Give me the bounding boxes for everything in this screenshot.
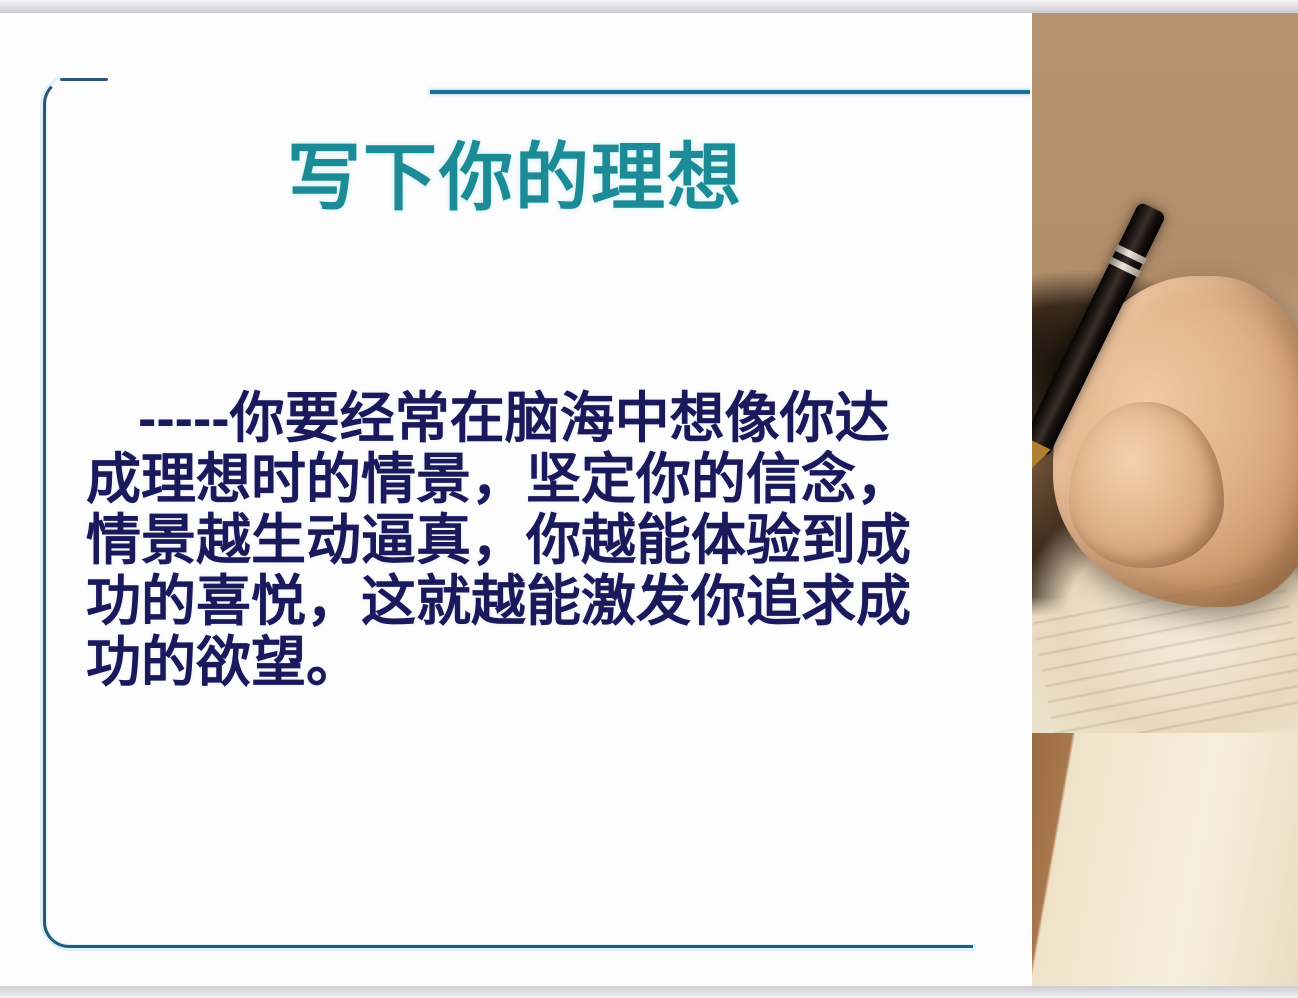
- body-line-5: 功的欲望。: [86, 632, 966, 693]
- slide-body-text: -----你要经常在脑海中想像你达 成理想时的情景，坚定你的信念， 情景越生动逼…: [86, 388, 966, 693]
- desk-page-wedge: [1032, 733, 1298, 986]
- top-chrome-bar: [0, 0, 1298, 13]
- bottom-chrome-bar: [0, 986, 1298, 998]
- body-line-2: 成理想时的情景，坚定你的信念，: [86, 449, 966, 510]
- photo-background: [1032, 13, 1298, 986]
- slide-content-area: 写下你的理想 -----你要经常在脑海中想像你达 成理想时的情景，坚定你的信念，…: [0, 13, 1030, 986]
- pen-nib: [1030, 437, 1051, 485]
- body-line-3: 情景越生动逼真，你越能体验到成: [86, 510, 966, 571]
- body-line-1: -----你要经常在脑海中想像你达: [86, 388, 966, 449]
- paper-writing-lines: [1032, 574, 1298, 756]
- body-line-4: 功的喜悦，这就越能激发你追求成: [86, 571, 966, 632]
- slide-title: 写下你的理想: [60, 138, 970, 218]
- slide-stage: 写下你的理想 -----你要经常在脑海中想像你达 成理想时的情景，坚定你的信念，…: [0, 0, 1298, 998]
- writing-hand-photo: [1030, 13, 1298, 986]
- decorative-frame-top-stub: [60, 78, 108, 81]
- decorative-frame-top-rule: [430, 90, 1030, 94]
